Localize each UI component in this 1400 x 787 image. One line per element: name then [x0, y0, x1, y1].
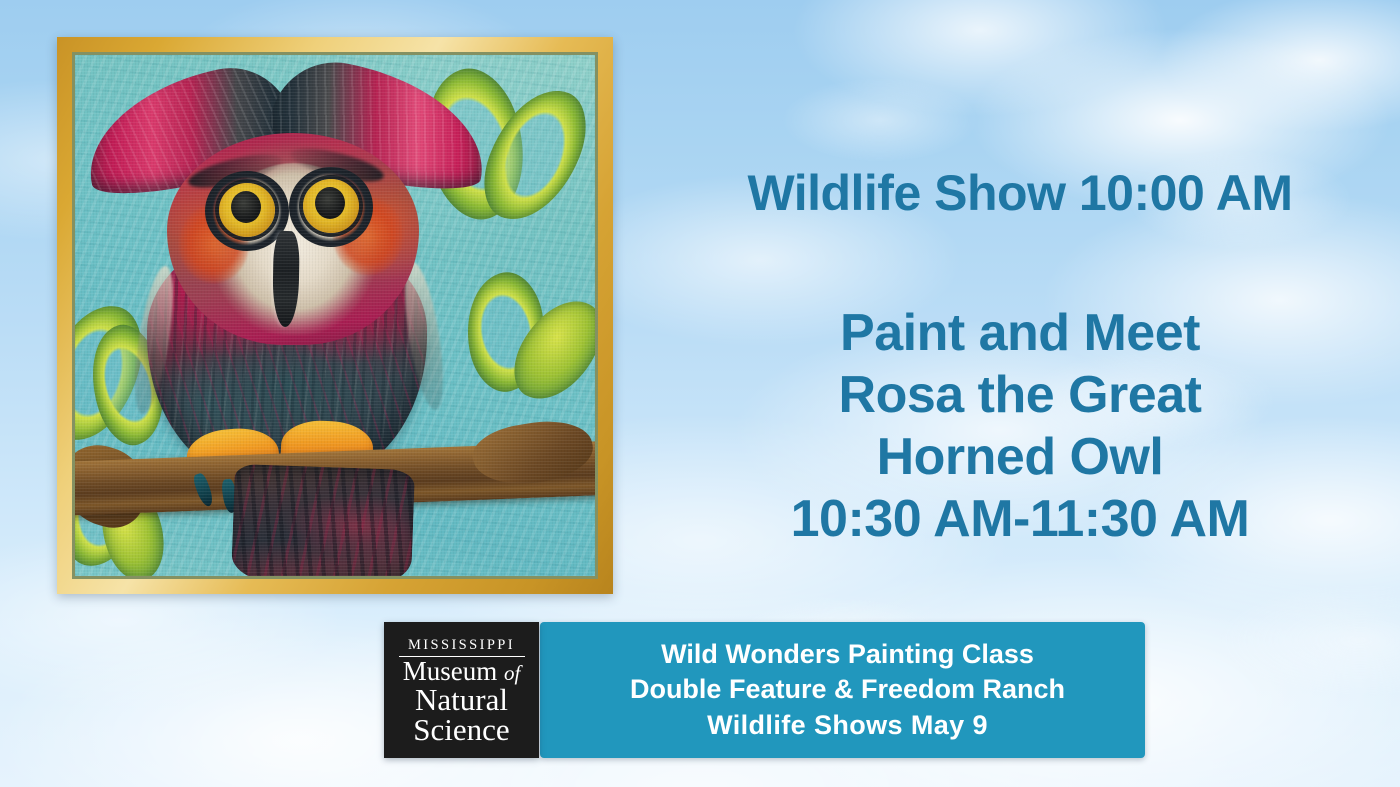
event-banner: Wild Wonders Painting Class Double Featu… [540, 622, 1145, 758]
event-line-1: Paint and Meet [680, 303, 1360, 365]
banner-line-3: Wildlife Shows May 9 [707, 708, 988, 744]
banner-line-1: Wild Wonders Painting Class [661, 637, 1034, 673]
owl-eye-pupil-left [231, 191, 261, 223]
logo-science-word: Science [413, 715, 509, 745]
museum-logo: MISSISSIPPI Museum of Natural Science [384, 622, 539, 758]
event-details: Paint and Meet Rosa the Great Horned Owl… [680, 303, 1360, 551]
event-time-range: 10:30 AM-11:30 AM [680, 489, 1360, 551]
logo-natural-word: Natural [415, 685, 508, 715]
page-title: Wildlife Show 10:00 AM [660, 167, 1380, 220]
owl-painting-canvas [75, 55, 595, 576]
brushstroke-texture [231, 464, 415, 576]
banner-line-2: Double Feature & Freedom Ranch [630, 672, 1065, 708]
event-line-3: Horned Owl [680, 427, 1360, 489]
owl-eye-pupil-right [315, 187, 345, 219]
logo-state-name: MISSISSIPPI [408, 638, 515, 657]
event-line-2: Rosa the Great [680, 365, 1360, 427]
owl-tail-feathers [231, 464, 415, 576]
frame-inner-bevel [72, 52, 598, 579]
framed-owl-painting [57, 37, 613, 594]
promo-graphic: Wildlife Show 10:00 AM Paint and Meet Ro… [0, 0, 1400, 787]
